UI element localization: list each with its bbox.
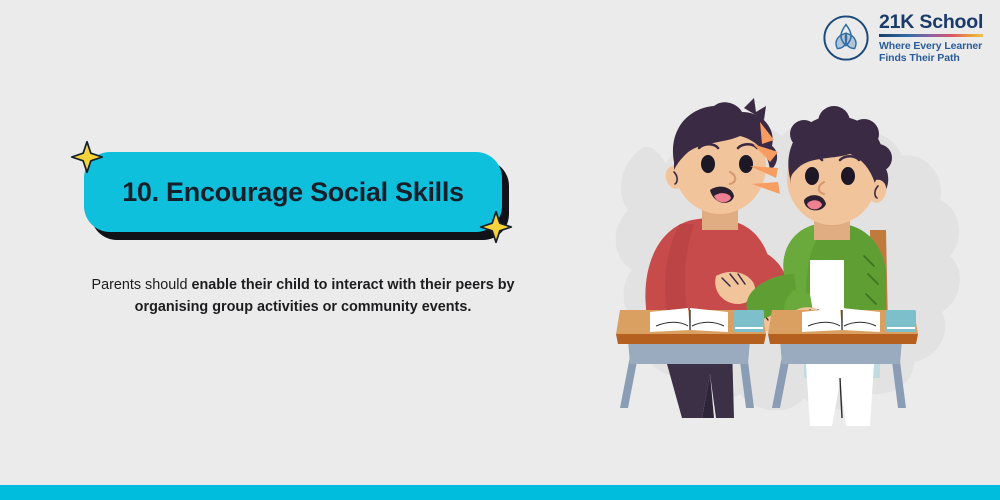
right-student-eye-left (805, 167, 819, 185)
sparkle-icon-bottom-right (479, 210, 513, 244)
banner-body: 10. Encourage Social Skills (84, 152, 502, 232)
lotus-circle-logo-icon (822, 14, 870, 62)
right-student-eye-right (841, 167, 855, 185)
logo-tagline-line-1: Where Every Learner (879, 40, 983, 52)
right-student-hair-curl-4 (864, 144, 892, 172)
desk-left-edge (616, 334, 766, 344)
logo-name: 21K School (879, 12, 983, 32)
left-student-eye-left (701, 155, 715, 173)
right-student-hair-curl-1 (790, 120, 818, 148)
logo-text-block: 21K School Where Every Learner Finds The… (879, 12, 983, 65)
logo-tagline-line-2: Finds Their Path (879, 52, 983, 64)
sparkle-icon-top-left (70, 140, 104, 174)
body-paragraph: Parents should enable their child to int… (88, 274, 518, 319)
page-title: 10. Encourage Social Skills (122, 177, 464, 208)
book-open-right-2 (842, 308, 880, 332)
bottom-accent-bar (0, 485, 1000, 500)
logo-tagline: Where Every Learner Finds Their Path (879, 40, 983, 65)
title-banner: 10. Encourage Social Skills (84, 152, 509, 244)
right-student-hair-curl-2 (818, 106, 850, 138)
book-open-left (650, 308, 690, 332)
body-strong-text: enable their child to interact with thei… (135, 277, 515, 315)
logo-gradient-rule (879, 34, 983, 37)
left-student-eye-right (739, 155, 753, 173)
illustration-two-students-talking (598, 78, 1000, 450)
book-open-right (802, 308, 842, 332)
desk-right-edge (768, 334, 918, 344)
body-lead-text: Parents should (91, 277, 191, 293)
brand-logo: 21K School Where Every Learner Finds The… (822, 12, 983, 65)
infographic-slide: 21K School Where Every Learner Finds The… (0, 0, 1000, 500)
book-open-left-2 (690, 308, 728, 332)
